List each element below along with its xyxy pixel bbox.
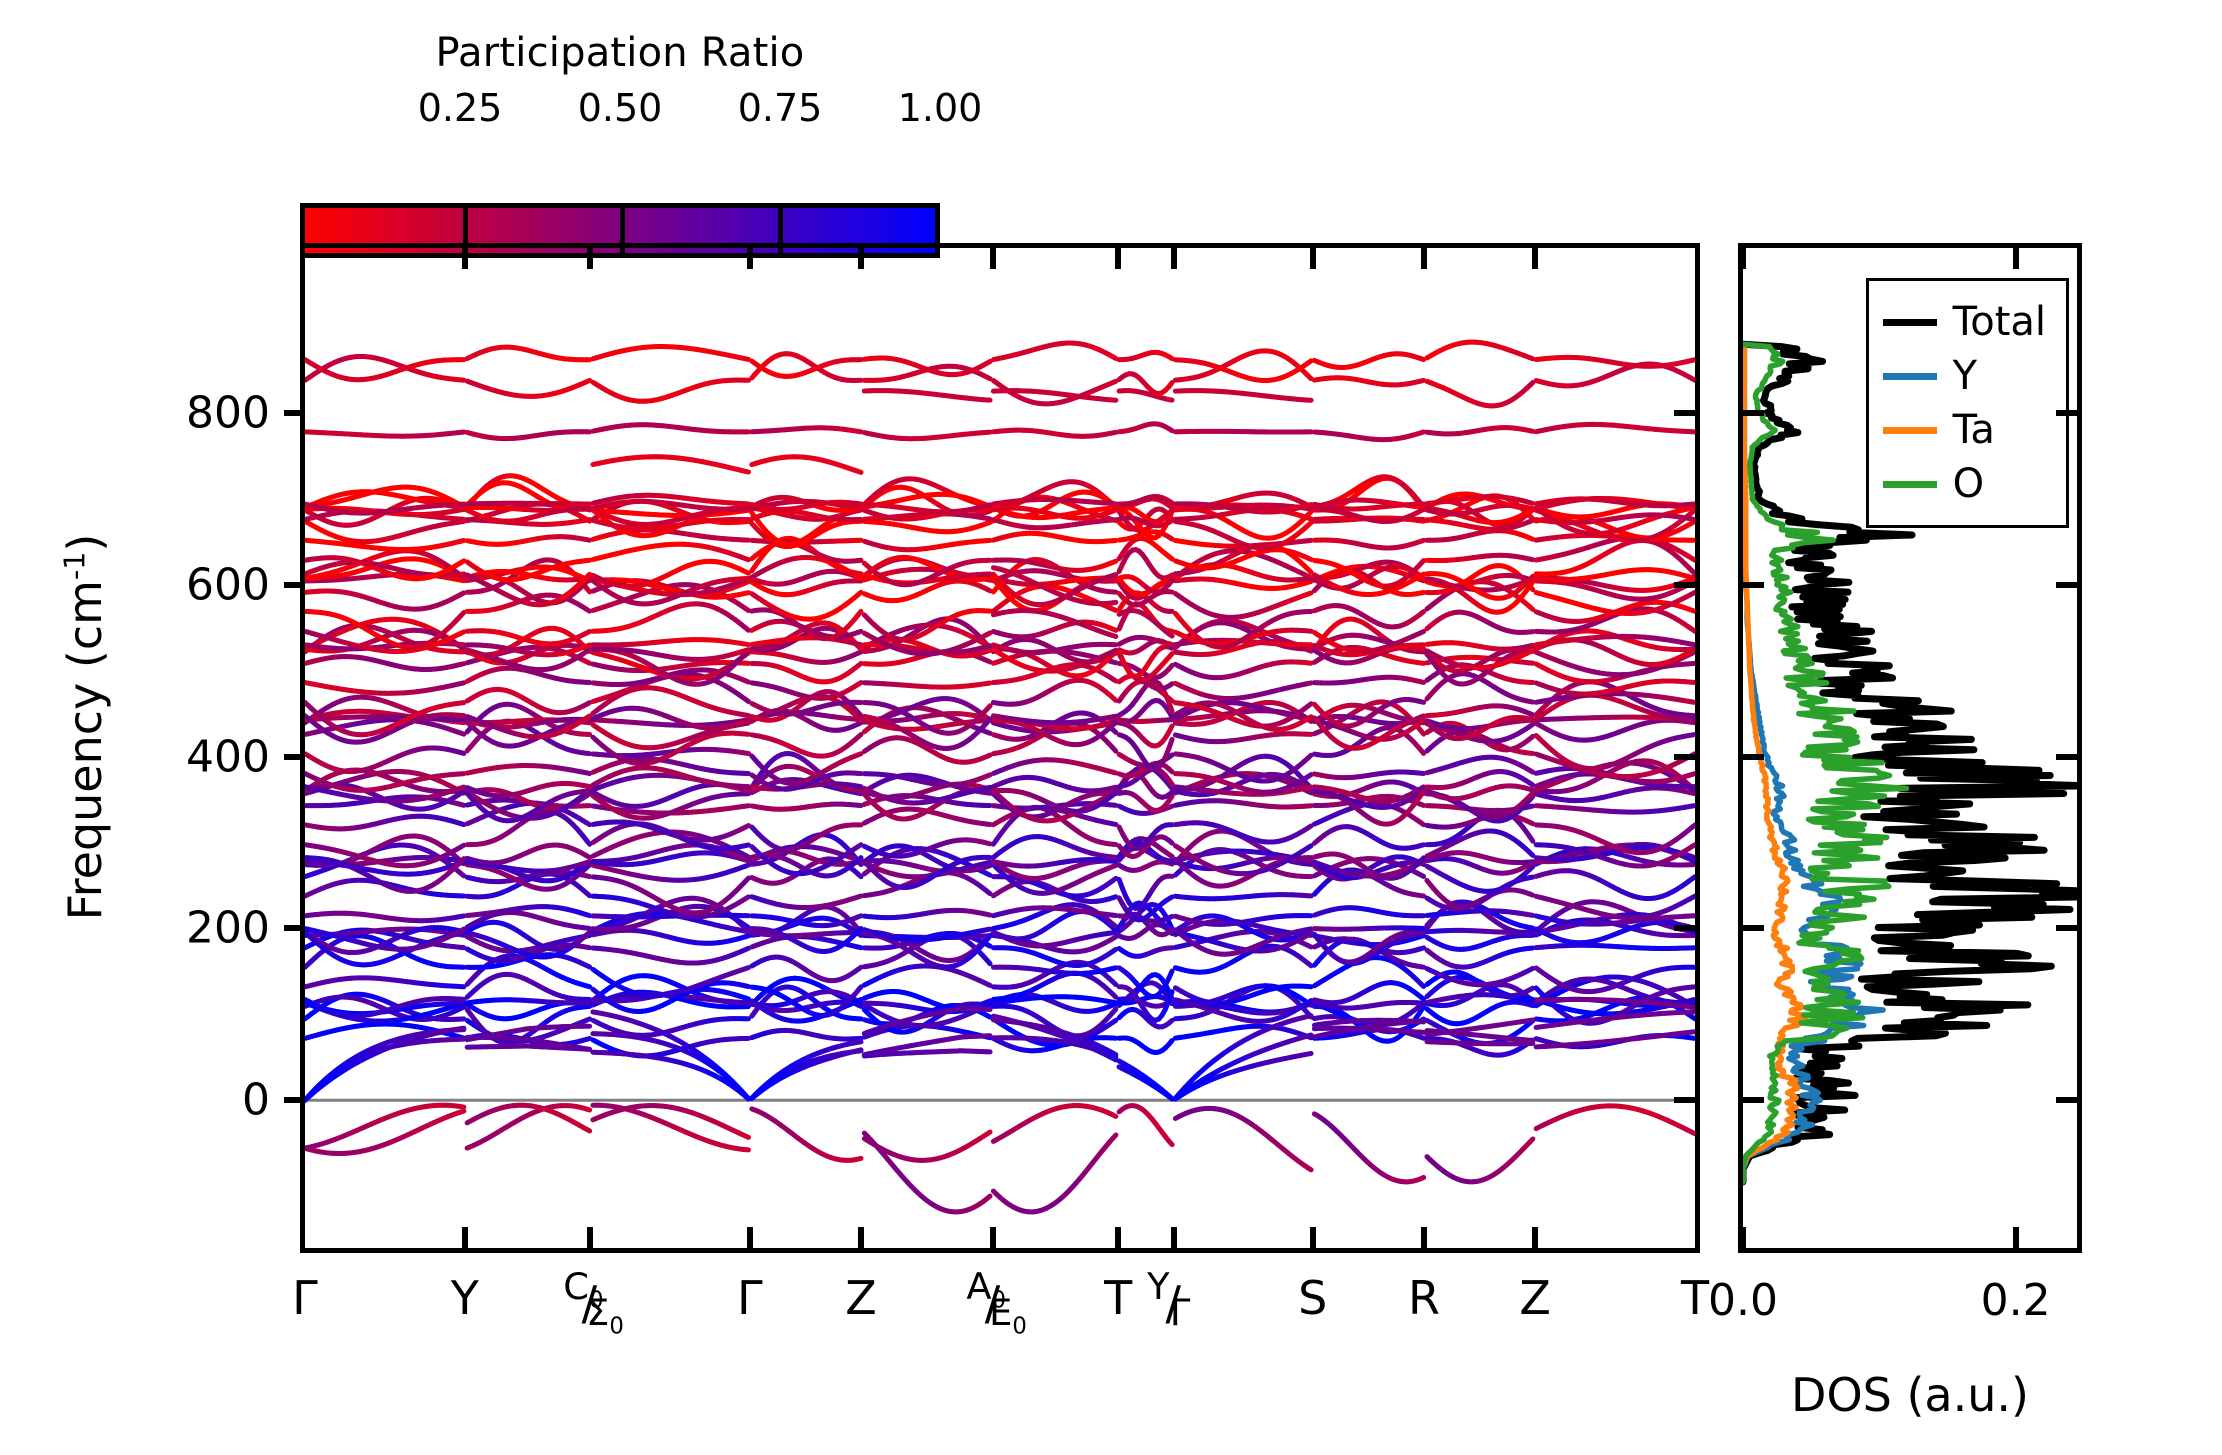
colorbar-tick-label-3: 1.00 (898, 86, 983, 130)
legend-swatch-o (1883, 481, 1937, 488)
y-tick-label-600: 600 (0, 559, 270, 610)
x-tick-label-t: T (1104, 1275, 1132, 1321)
x-tick-label-gamma: Γ (292, 1275, 318, 1321)
legend-label-total: Total (1953, 302, 2046, 342)
dos-x-tick-mark-0-bottom (1740, 1227, 1746, 1248)
dos-y-tick-mark-400-right (2056, 754, 2077, 760)
legend-item-total[interactable]: Total (1883, 295, 2046, 349)
x-tick-mark-9-bottom (1421, 1227, 1427, 1248)
x-tick-mark-10-bottom (1532, 1227, 1538, 1248)
legend-swatch-ta (1883, 427, 1937, 434)
colorbar-title: Participation Ratio (300, 30, 940, 76)
dos-y-tick-mark-0-left (1743, 1097, 1764, 1103)
x-tick-label-r: R (1408, 1275, 1440, 1321)
dos-y-tick-mark-400-left (1743, 754, 1764, 760)
x-tick-label-z: Z (845, 1275, 877, 1321)
y-axis-label-close: ) (58, 534, 112, 552)
x-tick-mark-5-top (990, 248, 996, 269)
x-tick-label-s: S (1298, 1275, 1327, 1321)
dos-y-tick-mark-600-left (1743, 582, 1764, 588)
band-y-tick-mark-right-0 (1674, 1097, 1695, 1103)
dos-x-axis-label: DOS (a.u.) (1738, 1368, 2082, 1422)
y-tick-mark-0 (284, 1097, 305, 1103)
x-tick-mark-8-top (1310, 248, 1316, 269)
x-tick-mark-9-top (1421, 248, 1427, 269)
x-tick-label-y-gamma: Y/Γ (1147, 1275, 1200, 1325)
x-tick-mark-2-bottom (587, 1227, 593, 1248)
colorbar-tick-labels: 0.250.500.751.00 (300, 86, 940, 130)
dos-y-tick-mark-0-right (2056, 1097, 2077, 1103)
legend-swatch-y (1883, 373, 1937, 380)
x-tick-mark-7-bottom (1171, 1227, 1177, 1248)
x-tick-mark-3-top (747, 248, 753, 269)
dos-y-tick-mark-600-right (2056, 582, 2077, 588)
colorbar-tick-label-2: 0.75 (738, 86, 823, 130)
x-tick-mark-5-bottom (990, 1227, 996, 1248)
dos-x-tick-mark-1-bottom (2013, 1227, 2019, 1248)
y-tick-mark-400 (284, 754, 305, 760)
band-y-tick-mark-right-800 (1674, 410, 1695, 416)
y-tick-mark-600 (284, 582, 305, 588)
dos-y-tick-mark-800-right (2056, 410, 2077, 416)
y-tick-mark-800 (284, 410, 305, 416)
dos-x-tick-label-0: 0.0 (1708, 1275, 1778, 1326)
legend-item-ta[interactable]: Ta (1883, 403, 2046, 457)
x-tick-label-c0-sigma0: C0/Σ0 (563, 1275, 616, 1325)
x-tick-label-a0-e0: A0/E0 (966, 1275, 1019, 1325)
dos-x-tick-mark-0-top (1740, 248, 1746, 269)
band-y-tick-mark-right-400 (1674, 754, 1695, 760)
legend-label-ta: Ta (1953, 410, 1995, 450)
colorbar-tick-label-1: 0.50 (578, 86, 663, 130)
y-tick-label-800: 800 (0, 387, 270, 438)
x-tick-mark-10-top (1532, 248, 1538, 269)
band-y-tick-mark-right-600 (1674, 582, 1695, 588)
x-tick-mark-4-bottom (858, 1227, 864, 1248)
dos-x-tick-label-1: 0.2 (1981, 1275, 2051, 1326)
x-tick-mark-2-top (587, 248, 593, 269)
dos-y-tick-mark-200-right (2056, 925, 2077, 931)
x-tick-label-gamma: Γ (737, 1275, 763, 1321)
dos-y-tick-mark-200-left (1743, 925, 1764, 931)
band-structure-curves (305, 248, 1695, 1248)
dos-plot: TotalYTaO (1738, 243, 2082, 1253)
x-tick-label-z: Z (1519, 1275, 1551, 1321)
x-tick-mark-8-bottom (1310, 1227, 1316, 1248)
legend-item-o[interactable]: O (1883, 457, 2046, 511)
y-tick-label-0: 0 (0, 1075, 270, 1126)
y-tick-label-400: 400 (0, 731, 270, 782)
x-tick-label-t: T (1681, 1275, 1709, 1321)
x-tick-mark-6-bottom (1115, 1227, 1121, 1248)
x-tick-mark-1-top (462, 248, 468, 269)
x-tick-mark-4-top (858, 248, 864, 269)
y-tick-label-200: 200 (0, 903, 270, 954)
legend-swatch-total (1883, 319, 1937, 326)
x-tick-mark-7-top (1171, 248, 1177, 269)
band-structure-plot (300, 243, 1700, 1253)
dos-legend: TotalYTaO (1866, 278, 2069, 528)
dos-x-tick-mark-1-top (2013, 248, 2019, 269)
dos-y-tick-mark-800-left (1743, 410, 1764, 416)
x-tick-mark-1-bottom (462, 1227, 468, 1248)
legend-item-y[interactable]: Y (1883, 349, 2046, 403)
band-y-tick-mark-right-200 (1674, 925, 1695, 931)
x-tick-label-y: Y (451, 1275, 479, 1321)
colorbar-tick-label-0: 0.25 (418, 86, 503, 130)
legend-label-y: Y (1953, 356, 1977, 396)
x-tick-mark-3-bottom (747, 1227, 753, 1248)
x-tick-mark-6-top (1115, 248, 1121, 269)
legend-label-o: O (1953, 464, 1984, 504)
y-tick-mark-200 (284, 925, 305, 931)
